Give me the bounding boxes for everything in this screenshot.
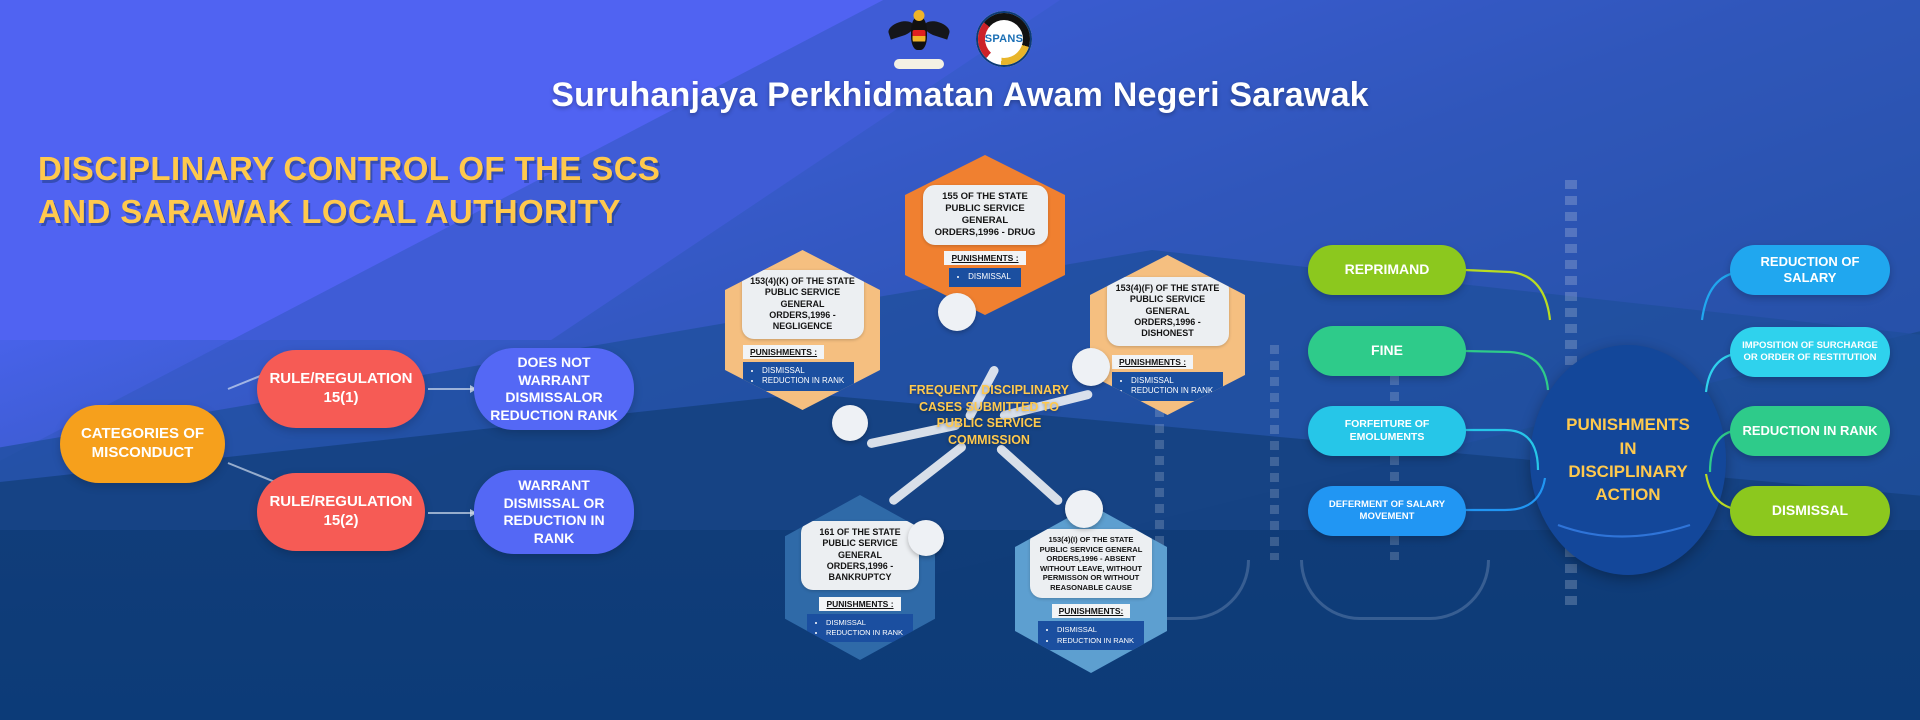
hub-line-2: IN <box>1566 437 1690 460</box>
punishment-pill-reduction-in-rank[interactable]: REDUCTION IN RANK <box>1730 406 1890 456</box>
punishment-item: REDUCTION IN RANK <box>826 628 903 638</box>
node-outcome-does-not-warrant[interactable]: DOES NOT WARRANT DISMISSALOR REDUCTION R… <box>474 348 634 430</box>
scale-pan-right <box>1300 560 1490 620</box>
infographic-canvas: SPANS Suruhanjaya Perkhidmatan Awam Nege… <box>0 0 1920 720</box>
sarawak-crest-icon <box>888 8 950 70</box>
punishment-pill-reprimand[interactable]: REPRIMAND <box>1308 245 1466 295</box>
punishment-item: DISMISSAL <box>968 272 1011 283</box>
punishment-item: DISMISSAL <box>762 366 844 377</box>
punishment-item: REDUCTION IN RANK <box>762 376 844 387</box>
punishments-list: DISMISSAL REDUCTION IN RANK <box>807 614 913 642</box>
scale-chain-center <box>1270 345 1279 560</box>
spans-logo-icon: SPANS <box>976 11 1032 67</box>
logo-row: SPANS <box>0 0 1920 70</box>
hub-line-4: ACTION <box>1566 483 1690 506</box>
headline-line-1: DISCIPLINARY CONTROL OF THE SCS <box>38 148 678 191</box>
punishment-pill-forfeiture-of-emoluments[interactable]: FORFEITURE OF EMOLUMENTS <box>1308 406 1466 456</box>
connector-rule1-to-outcome1 <box>428 388 476 390</box>
punishment-item: DISMISSAL <box>1057 625 1134 635</box>
hex-node-dot-bankruptcy <box>908 520 944 556</box>
hex-node-dot-dishonest <box>1072 348 1110 386</box>
connector-rule2-to-outcome2 <box>428 512 476 514</box>
punishment-item: REDUCTION IN RANK <box>1057 636 1134 646</box>
hub-line-1: PUNISHMENTS <box>1566 413 1690 436</box>
punishment-pill-dismissal[interactable]: DISMISSAL <box>1730 486 1890 536</box>
headline: DISCIPLINARY CONTROL OF THE SCS AND SARA… <box>38 148 678 234</box>
spans-logo-text: SPANS <box>976 11 1032 67</box>
node-rule-15-2[interactable]: RULE/REGULATION 15(2) <box>257 473 425 551</box>
headline-line-2: AND SARAWAK LOCAL AUTHORITY <box>38 191 678 234</box>
punishment-item: REDUCTION IN RANK <box>1131 386 1213 397</box>
punishment-pill-imposition-of-surcharge[interactable]: IMPOSITION OF SURCHARGE OR ORDER OF REST… <box>1730 327 1890 377</box>
punishment-pill-deferment-of-salary-movement[interactable]: DEFERMENT OF SALARY MOVEMENT <box>1308 486 1466 536</box>
punishments-heading: PUNISHMENTS: <box>1052 604 1131 618</box>
node-outcome-warrant-dismissal[interactable]: WARRANT DISMISSAL OR REDUCTION IN RANK <box>474 470 634 554</box>
punishments-heading: PUNISHMENTS : <box>743 345 824 359</box>
punishment-pill-fine[interactable]: FINE <box>1308 326 1466 376</box>
punishments-list: DISMISSAL <box>949 268 1021 287</box>
page-header: SPANS Suruhanjaya Perkhidmatan Awam Nege… <box>0 0 1920 135</box>
case-title: 155 OF THE STATE PUBLIC SERVICE GENERAL … <box>923 185 1048 245</box>
punishments-heading: PUNISHMENTS : <box>944 251 1025 265</box>
punishments-heading: PUNISHMENTS : <box>819 597 900 611</box>
page-title: Suruhanjaya Perkhidmatan Awam Negeri Sar… <box>0 76 1920 115</box>
case-title: 153(4)(K) OF THE STATE PUBLIC SERVICE GE… <box>742 270 864 339</box>
punishments-list: DISMISSAL REDUCTION IN RANK <box>1038 621 1144 649</box>
hex-node-dot-absent <box>1065 490 1103 528</box>
case-title: 153(4)(F) OF THE STATE PUBLIC SERVICE GE… <box>1107 277 1229 346</box>
case-title: 161 OF THE STATE PUBLIC SERVICE GENERAL … <box>801 521 919 590</box>
hex-node-dot-drug <box>938 293 976 331</box>
hex-node-dot-negligence <box>832 405 868 441</box>
punishments-list: DISMISSAL REDUCTION IN RANK <box>743 362 854 392</box>
punishment-item: DISMISSAL <box>1131 376 1213 387</box>
hub-line-3: DISCIPLINARY <box>1566 460 1690 483</box>
punishment-pill-reduction-of-salary[interactable]: REDUCTION OF SALARY <box>1730 245 1890 295</box>
punishments-heading: PUNISHMENTS : <box>1112 355 1193 369</box>
node-categories-of-misconduct[interactable]: CATEGORIES OF MISCONDUCT <box>60 405 225 483</box>
node-rule-15-1[interactable]: RULE/REGULATION 15(1) <box>257 350 425 428</box>
punishment-item: DISMISSAL <box>826 618 903 628</box>
punishments-hub[interactable]: PUNISHMENTS IN DISCIPLINARY ACTION <box>1530 345 1726 575</box>
center-cluster-label: FREQUENT DISCIPLINARY CASES SUBMITTED TO… <box>908 382 1070 448</box>
case-title: 153(4)(I) OF THE STATE PUBLIC SERVICE GE… <box>1030 529 1152 598</box>
hub-label-wrapper: PUNISHMENTS IN DISCIPLINARY ACTION <box>1566 413 1690 507</box>
